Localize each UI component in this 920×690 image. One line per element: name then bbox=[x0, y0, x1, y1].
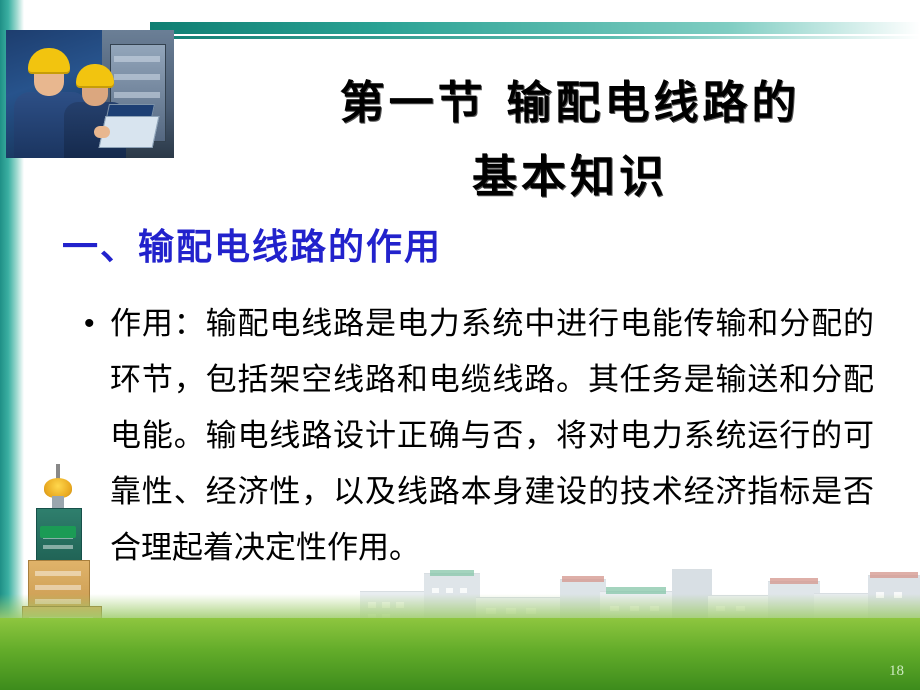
photo-worker-one-face bbox=[34, 68, 64, 96]
tower-sign-board bbox=[40, 526, 76, 538]
slide-title-line-1: 第一节 输配电线路的 bbox=[230, 72, 910, 134]
tower-golden-crown bbox=[44, 478, 72, 498]
photo-panel-stripe bbox=[114, 74, 160, 80]
workers-photo bbox=[6, 30, 174, 158]
body-content: • 作用：输配电线路是电力系统中进行电能传输和分配的环节，包括架空线路和电缆线路… bbox=[84, 296, 874, 576]
bullet-paragraph: 作用：输配电线路是电力系统中进行电能传输和分配的环节，包括架空线路和电缆线路。其… bbox=[110, 296, 874, 576]
grass-band bbox=[0, 618, 920, 690]
bullet-list-item: • 作用：输配电线路是电力系统中进行电能传输和分配的环节，包括架空线路和电缆线路… bbox=[84, 296, 874, 576]
top-accent-bar-thin bbox=[150, 36, 920, 39]
bullet-point-icon: • bbox=[84, 296, 110, 352]
photo-worker-hand bbox=[94, 126, 110, 138]
section-subtitle: 一、输配电线路的作用 bbox=[62, 218, 442, 270]
photo-panel-stripe bbox=[114, 56, 160, 62]
top-accent-bar bbox=[150, 22, 920, 34]
page-number: 18 bbox=[889, 663, 904, 680]
photo-worker-one-helmet bbox=[28, 48, 70, 72]
slide-title-line-2: 基本知识 bbox=[230, 146, 910, 208]
photo-panel-stripe bbox=[114, 92, 160, 98]
slide-canvas: 第一节 输配电线路的 基本知识 一、输配电线路的作用 • 作用：输配电线路是电力… bbox=[0, 0, 920, 690]
